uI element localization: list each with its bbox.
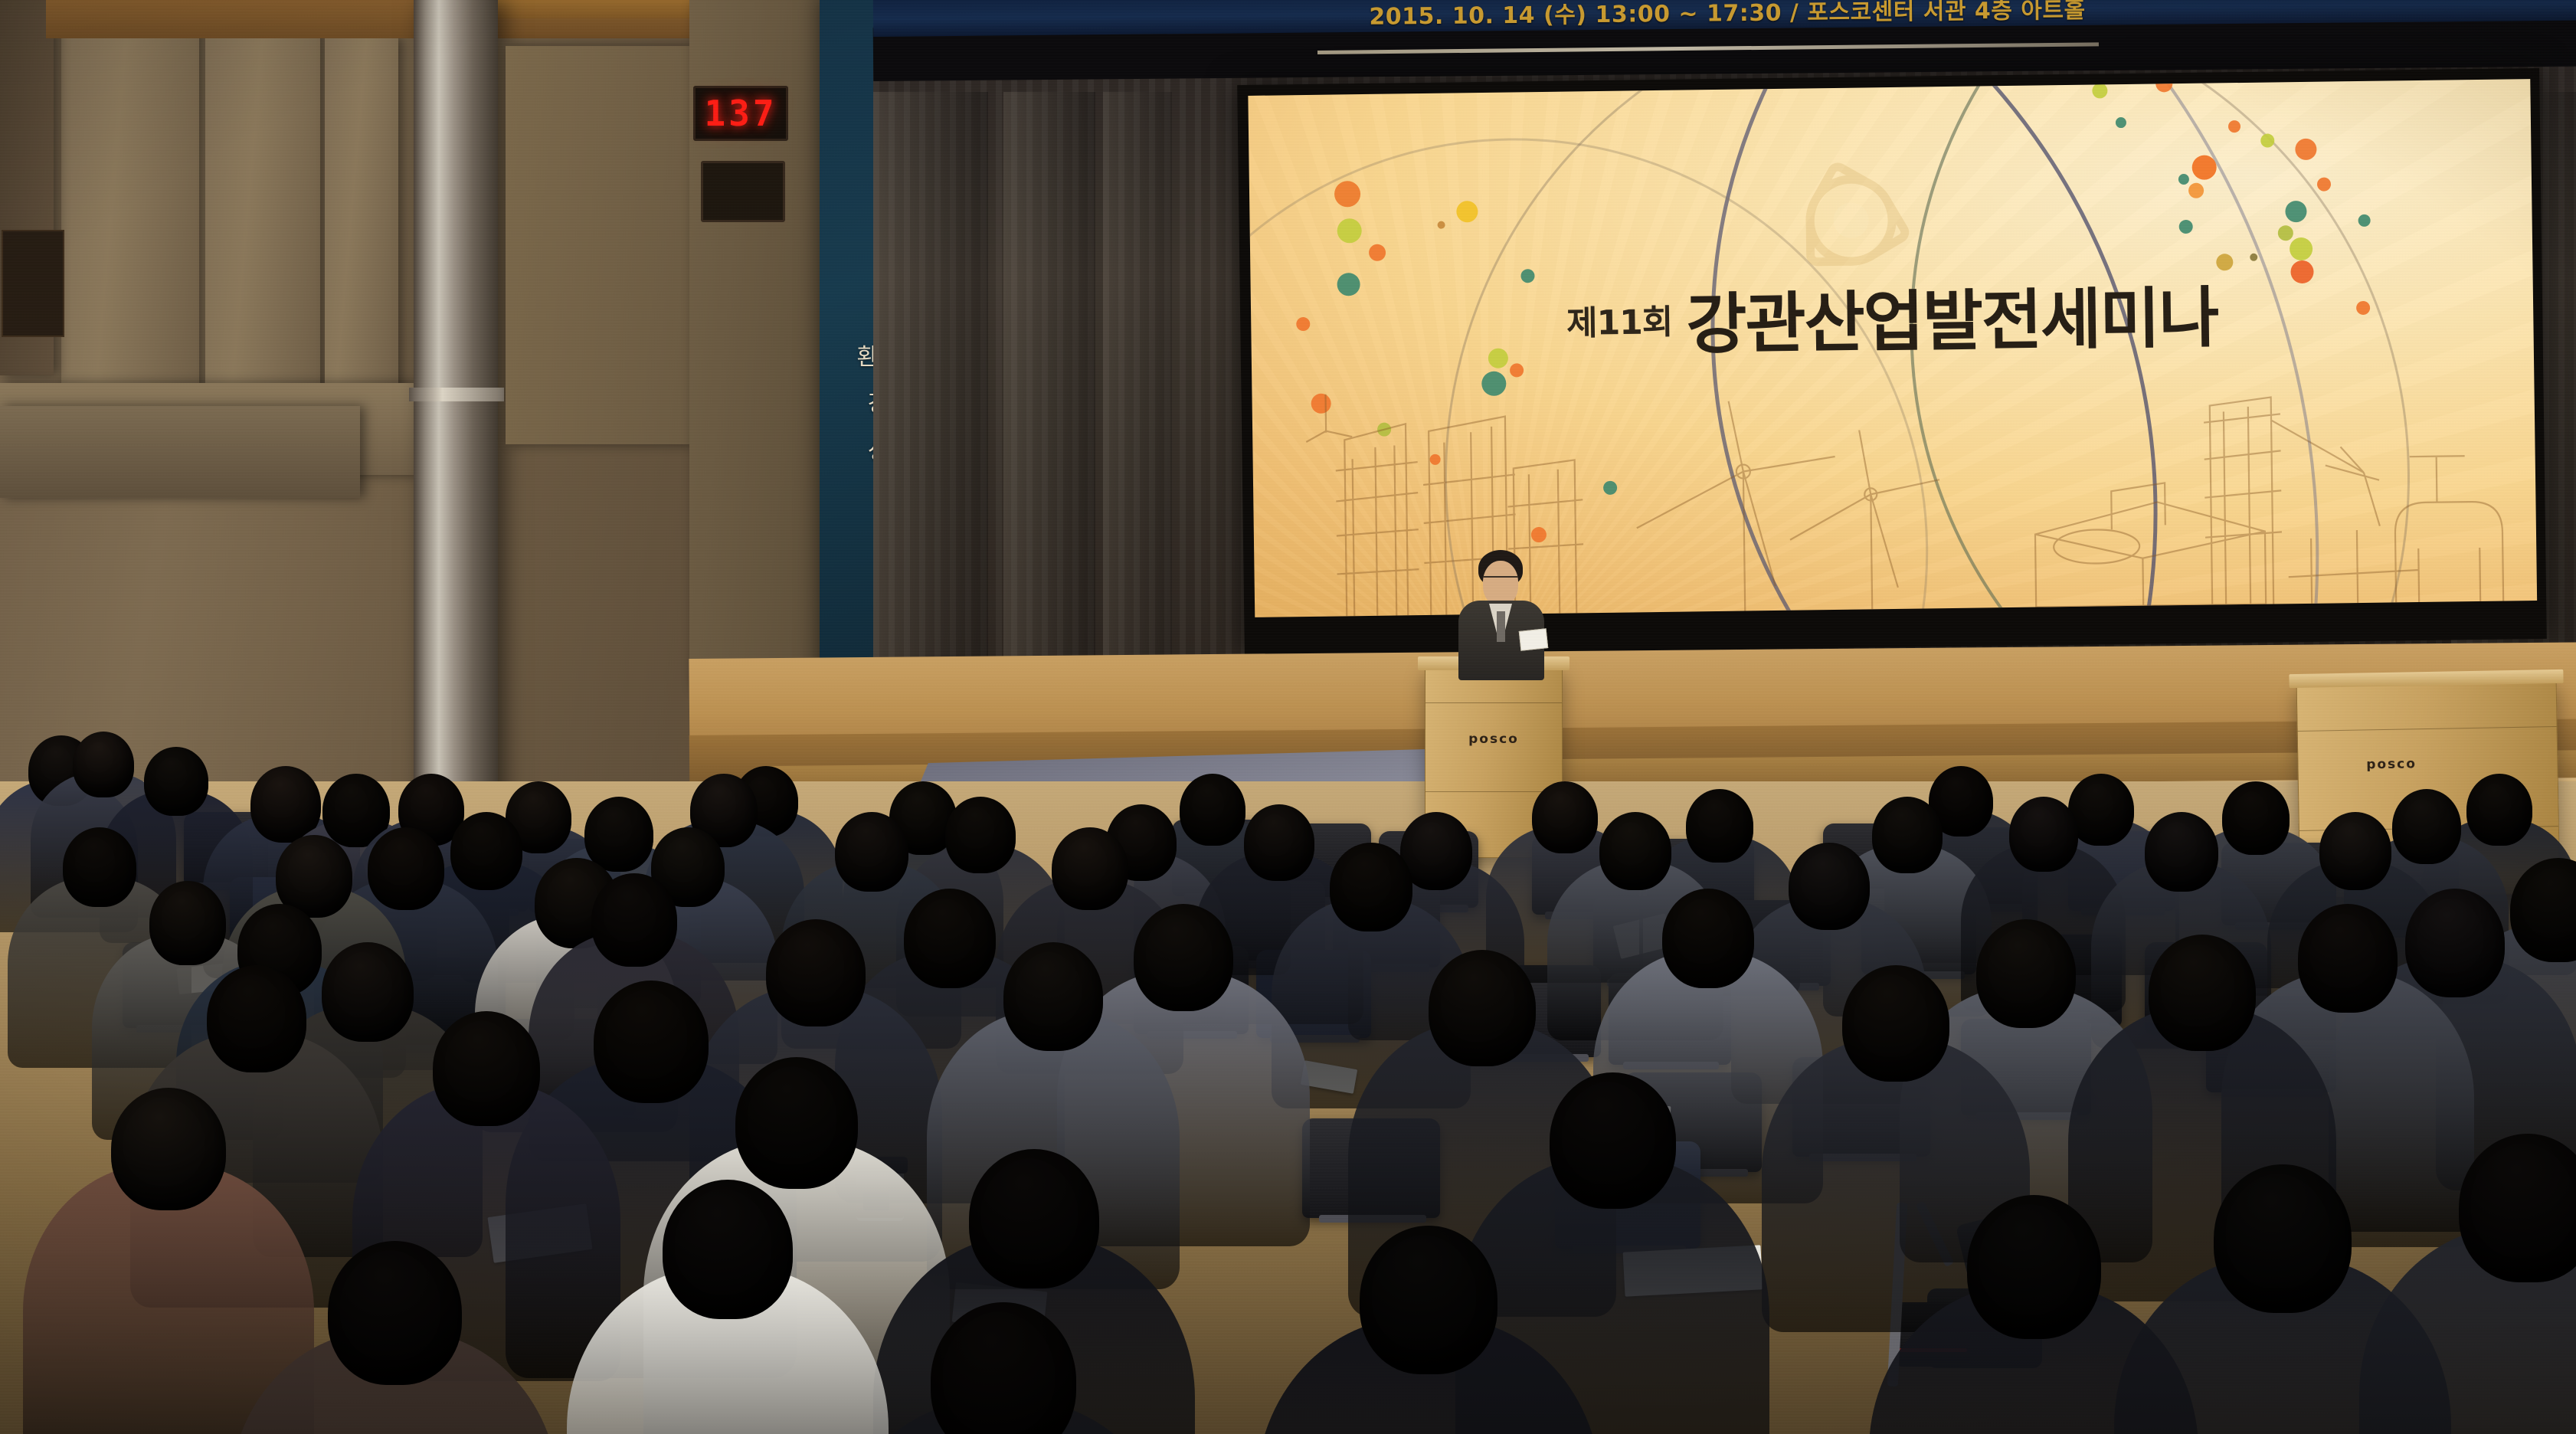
clock-digits: 137 (704, 93, 777, 134)
presenter-tie (1497, 611, 1505, 642)
audience-member (827, 1302, 1180, 1434)
acoustic-panel (61, 0, 199, 391)
audience-member-head (1599, 812, 1671, 890)
audience-member-head (2149, 935, 2256, 1051)
projection-screen-frame: 제11회강관산업발전세미나 (1237, 68, 2547, 656)
screen-title-prefix: 제11회 (1566, 303, 1673, 343)
presenter (1455, 550, 1547, 680)
audience-member-head (2459, 1134, 2576, 1282)
audience-member-head (111, 1088, 226, 1210)
screen-dot-34 (2358, 214, 2371, 227)
column-collar (409, 388, 504, 401)
screen-title-main: 강관산업발전세미나 (1686, 280, 2218, 363)
screen-dot-2 (1369, 244, 1386, 261)
screen-dot-28 (2278, 225, 2293, 241)
podium-logo: posco (1468, 732, 1519, 747)
audience-member (230, 1241, 559, 1434)
audience-member-head (1429, 950, 1536, 1066)
audience-member-head (931, 1302, 1076, 1434)
screen-dot-4 (1456, 201, 1478, 222)
audience-member (1869, 1195, 2198, 1434)
wall-lower-panel (0, 406, 360, 498)
audience-member-head (663, 1180, 793, 1319)
audience-member-head (1550, 1072, 1676, 1209)
audience-member-head (2319, 812, 2391, 890)
audience-member-head (328, 1241, 462, 1385)
audience-member-head (1662, 889, 1754, 988)
presenter-head (1483, 561, 1518, 605)
audience-member-head (1967, 1195, 2101, 1339)
audience-member-head (969, 1149, 1099, 1288)
projection-screen: 제11회강관산업발전세미나 (1248, 79, 2537, 617)
audience-member-head (2145, 812, 2218, 892)
audience-member-head (1360, 1226, 1497, 1374)
podium-right-logo: posco (2366, 756, 2417, 772)
audience-member-head (735, 1057, 858, 1189)
screen-dot-24 (2188, 183, 2204, 198)
audience-member-head (2009, 797, 2078, 872)
posco-swirl-logo-watermark (1785, 155, 1916, 286)
wall-vent (2, 230, 64, 337)
audience-member-head (1330, 843, 1412, 931)
audience-member-head (144, 747, 208, 816)
audience-member (1256, 1226, 1601, 1434)
auditorium-photo: 137 글로벌 환경변화와 강관산업 성장전략 2015. 10. 14 (수)… (0, 0, 2576, 1434)
audience-member-head (835, 812, 908, 892)
screen-dot-30 (2250, 254, 2257, 261)
screen-title: 제11회강관산업발전세미나 (1250, 260, 2533, 372)
screen-dot-19 (2228, 120, 2240, 133)
presenter-name-badge (1519, 628, 1549, 651)
screen-dot-16 (2092, 83, 2107, 98)
acoustic-panel (205, 15, 320, 398)
audience-member-head (1003, 942, 1103, 1051)
screen-dot-27 (2179, 220, 2193, 234)
acoustic-panel (506, 46, 689, 444)
industrial-lineart (1252, 371, 2526, 617)
acoustic-panel (325, 37, 398, 397)
screen-dot-23 (2178, 174, 2189, 185)
clock-secondary-display (701, 161, 785, 222)
audience-member-head (207, 965, 306, 1072)
audience-member-head (2214, 1164, 2352, 1313)
digital-clock: 137 (693, 86, 788, 141)
audience-member-head (591, 873, 677, 967)
screen-dot-3 (1438, 221, 1445, 229)
screen-dot-25 (2317, 177, 2331, 191)
presenter-glasses (1483, 576, 1518, 582)
audience-member-head (433, 1011, 540, 1126)
audience-member-head (1842, 965, 1949, 1082)
screen-dot-18 (2116, 117, 2126, 128)
structural-column (414, 0, 498, 866)
